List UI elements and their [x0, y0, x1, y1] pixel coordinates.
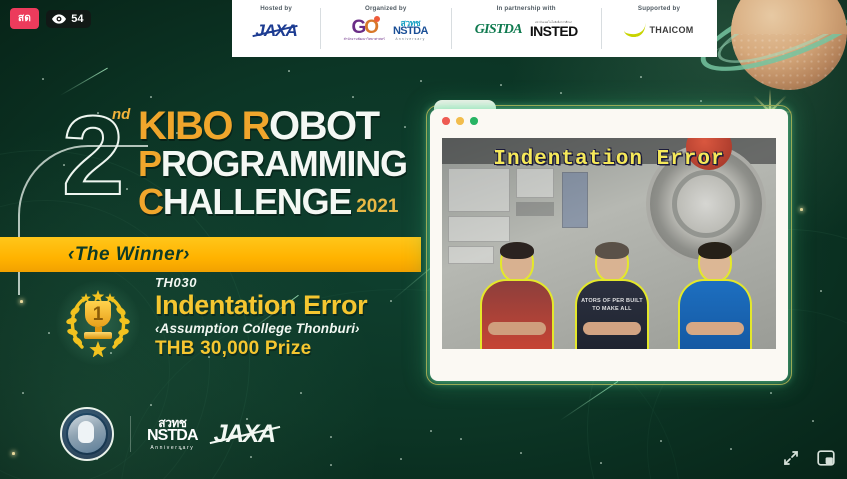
- gistda-logo: GISTDA: [475, 23, 522, 37]
- logo-k: K: [138, 104, 165, 148]
- kibo-rpc-emblem: [60, 407, 114, 461]
- trophy-icon: 1: [81, 301, 115, 345]
- winner-details: 1 TH030 Indentation Error ‹Assumption Co…: [56, 275, 436, 370]
- nstda-logo-english: NSTDA: [393, 26, 428, 37]
- close-dot-icon[interactable]: [442, 117, 450, 125]
- winner-banner-label: ‹The Winner›: [68, 244, 190, 266]
- thaicom-logo: THAICOM: [624, 24, 693, 37]
- footer-nstda-english: NSTDA: [147, 428, 198, 444]
- video-overlay-title: Indentation Error: [442, 148, 776, 171]
- player-controls: [782, 449, 835, 467]
- go-logo-subtitle: สำนักงานพัฒนาวิทยาศาสตร์: [344, 38, 385, 41]
- footer-nstda-logo: สวทช NSTDA Anniversary: [147, 417, 198, 451]
- team-member: [480, 242, 554, 349]
- nstda-logo-anniversary: Anniversary: [395, 38, 425, 41]
- logo-rogramming: ROGRAMMING: [161, 143, 407, 184]
- winner-school-name: ‹Assumption College Thonburi›: [155, 321, 360, 336]
- jaxa-logo: JAXA: [255, 22, 296, 39]
- sponsor-group-label: In partnership with: [497, 5, 556, 12]
- event-logo-line-1: KIBO ROBOT: [138, 106, 379, 146]
- minimize-dot-icon[interactable]: [456, 117, 464, 125]
- event-logo: 2 nd KIBO ROBOT PROGRAMMING CHALLENGE202…: [62, 98, 432, 233]
- sponsor-group-label: Hosted by: [260, 5, 292, 12]
- fullscreen-icon[interactable]: [782, 449, 800, 467]
- sponsor-group-in-partnership-with: In partnership with GISTDA สถาบันเทคโนโล…: [451, 0, 601, 57]
- footer-jaxa-logo: JAXA: [214, 422, 275, 447]
- event-logo-ordinal-suffix: nd: [112, 106, 130, 123]
- eye-icon: [52, 14, 66, 24]
- event-logo-line-2: PROGRAMMING: [138, 146, 407, 182]
- team-member-shirt-text: ATORS OF PER BUILT TO MAKE ALL: [577, 297, 647, 314]
- go-logo: GO สำนักงานพัฒนาวิทยาศาสตร์: [344, 18, 385, 41]
- broadcast-stage: สด 54 Hosted by JAXA Organized by: [0, 0, 847, 479]
- picture-in-picture-icon[interactable]: [817, 449, 835, 467]
- logo-p: P: [138, 143, 161, 184]
- trophy-rank-number: 1: [85, 301, 111, 327]
- team-member: ATORS OF PER BUILT TO MAKE ALL: [575, 242, 649, 349]
- sponsor-group-hosted-by: Hosted by JAXA: [232, 0, 320, 57]
- winner-banner: ‹The Winner›: [0, 237, 421, 272]
- thaicom-logo-name: THAICOM: [649, 25, 693, 35]
- logo-obot: OBOT: [269, 104, 379, 148]
- video-content[interactable]: Indentation Error ATORS O: [442, 138, 776, 349]
- logo-year: 2021: [356, 197, 398, 216]
- planet-graphic: [709, 0, 847, 112]
- live-status-group: สด 54: [10, 8, 91, 29]
- window-traffic-lights: [442, 117, 478, 125]
- logo-hallenge: HALLENGE: [163, 184, 351, 220]
- viewer-count-pill: 54: [46, 10, 91, 28]
- live-badge: สด: [10, 8, 39, 29]
- winner-prize-amount: THB 30,000 Prize: [155, 338, 311, 360]
- sponsor-bar: Hosted by JAXA Organized by GO สำนักงานพ…: [232, 0, 717, 57]
- sponsor-group-label: Organized by: [365, 5, 407, 12]
- go-logo-main: G: [352, 17, 365, 38]
- viewer-count-value: 54: [71, 13, 83, 25]
- sponsor-group-supported-by: Supported by THAICOM: [601, 0, 717, 57]
- footer-divider: [130, 416, 131, 452]
- window-body: Indentation Error ATORS O: [430, 109, 788, 381]
- logo-r: R: [242, 104, 269, 148]
- insted-logo-name: INSTED: [530, 24, 578, 38]
- event-logo-line-3: CHALLENGE2021: [138, 184, 399, 220]
- nstda-logo: สวทช NSTDA Anniversary: [393, 19, 428, 42]
- footer-logo-row: สวทช NSTDA Anniversary JAXA: [60, 405, 275, 463]
- maximize-dot-icon[interactable]: [470, 117, 478, 125]
- thaicom-swoosh-icon: [624, 22, 647, 37]
- video-window: Indentation Error ATORS O: [430, 109, 788, 381]
- logo-c: C: [138, 184, 163, 220]
- footer-nstda-anniversary: Anniversary: [150, 446, 194, 451]
- sponsor-group-label: Supported by: [638, 5, 680, 12]
- team-member: [678, 242, 752, 349]
- sponsor-group-organized-by: Organized by GO สำนักงานพัฒนาวิทยาศาสตร์…: [320, 0, 451, 57]
- winner-team-name: Indentation Error: [155, 291, 367, 319]
- winner-team-code: TH030: [155, 275, 197, 290]
- insted-logo: สถาบันเทคโนโลยีเพื่อการศึกษา INSTED: [530, 22, 578, 39]
- logo-ibo: IBO: [165, 104, 241, 148]
- first-place-medal: 1: [56, 281, 140, 365]
